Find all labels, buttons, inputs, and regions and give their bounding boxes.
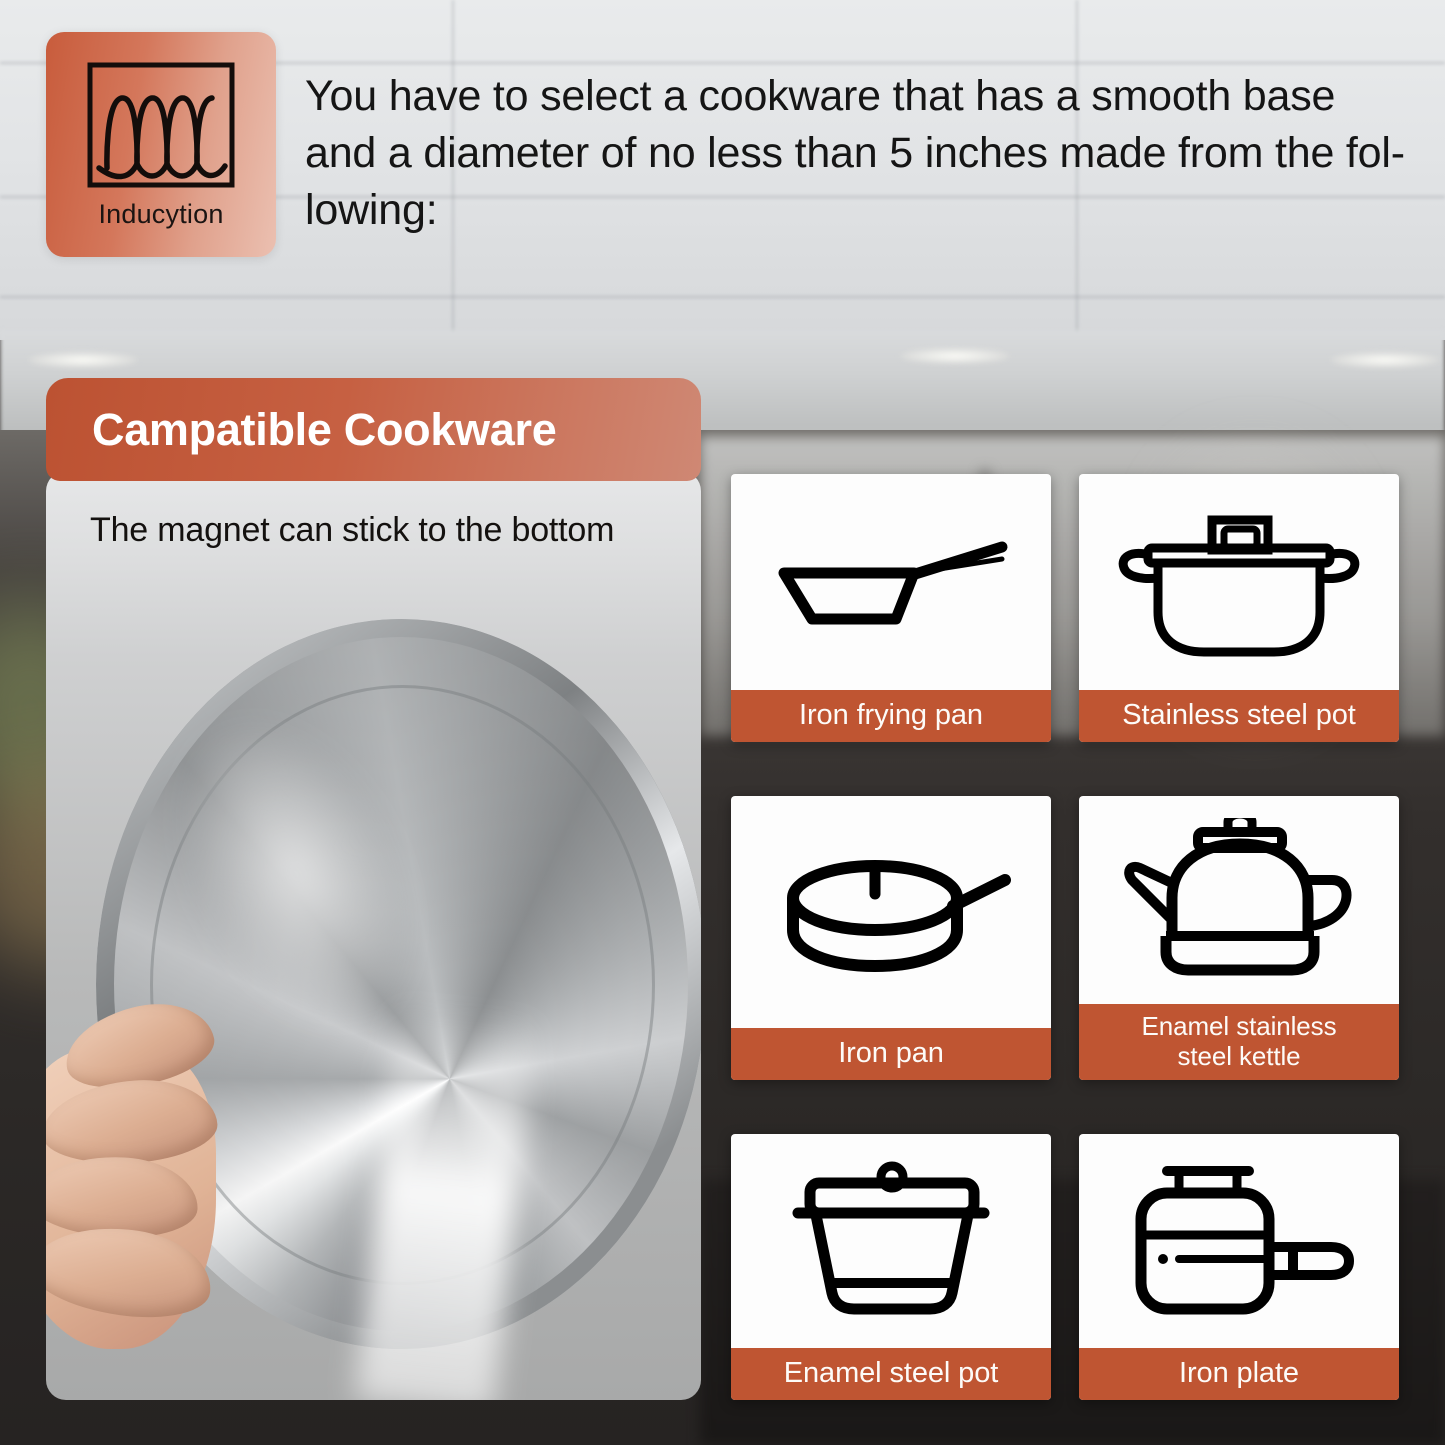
panel-title-bar: Campatible Cookware xyxy=(46,378,701,481)
induction-badge: Inducytion xyxy=(46,32,276,257)
card-artwork xyxy=(731,796,1051,1028)
card-artwork xyxy=(731,1134,1051,1348)
header-line-2: and a diameter of no less than 5 inches … xyxy=(305,125,1410,182)
compatible-cookware-panel: The magnet can stick to the bottom xyxy=(46,378,701,1400)
hood-light xyxy=(28,352,138,368)
card-label: Iron plate xyxy=(1079,1348,1399,1400)
card-label: Enamel stainless steel kettle xyxy=(1079,1004,1399,1080)
iron-plate-icon xyxy=(1119,1159,1359,1324)
card-label-line-2: steel kettle xyxy=(1177,1041,1300,1071)
magnet-on-pan-photo xyxy=(46,589,701,1400)
card-artwork xyxy=(1079,474,1399,690)
hand xyxy=(46,989,366,1389)
card-label: Stainless steel pot xyxy=(1079,690,1399,742)
magnet-caption: The magnet can stick to the bottom xyxy=(90,511,614,550)
infographic-page: Inducytion You have to select a cookware… xyxy=(0,0,1445,1445)
saute-pan-icon xyxy=(771,832,1011,992)
kettle-icon xyxy=(1122,818,1357,983)
card-artwork xyxy=(1079,796,1399,1004)
hood-light xyxy=(1330,352,1440,368)
card-label: Enamel steel pot xyxy=(731,1348,1051,1400)
cookware-grid: Iron frying pan Stainless steel pot xyxy=(731,474,1399,1400)
card-artwork xyxy=(1079,1134,1399,1348)
cookware-card-enamel-steel-pot[interactable]: Enamel steel pot xyxy=(731,1134,1051,1400)
cookware-card-iron-frying-pan[interactable]: Iron frying pan xyxy=(731,474,1051,742)
panel-title: Campatible Cookware xyxy=(92,404,556,456)
tile-grout-line xyxy=(0,296,1445,298)
induction-badge-label: Inducytion xyxy=(98,199,223,230)
header-line-1: You have to select a cookware that has a… xyxy=(305,68,1410,125)
card-label: Iron frying pan xyxy=(731,690,1051,742)
cookware-card-iron-pan[interactable]: Iron pan xyxy=(731,796,1051,1080)
card-label: Iron pan xyxy=(731,1028,1051,1080)
card-label-line-1: Enamel stainless xyxy=(1142,1011,1337,1041)
hood-light xyxy=(900,348,1010,364)
stock-pot-icon xyxy=(1112,500,1367,665)
frying-pan-icon xyxy=(766,507,1016,657)
cookware-card-enamel-kettle[interactable]: Enamel stainless steel kettle xyxy=(1079,796,1399,1080)
cookware-card-iron-plate[interactable]: Iron plate xyxy=(1079,1134,1399,1400)
induction-coil-icon xyxy=(85,60,237,190)
header-paragraph: You have to select a cookware that has a… xyxy=(305,68,1410,239)
header-line-3: lowing: xyxy=(305,182,1410,239)
panel-body: The magnet can stick to the bottom xyxy=(46,471,701,1400)
card-artwork xyxy=(731,474,1051,690)
enamel-pot-icon xyxy=(774,1161,1009,1321)
cookware-card-stainless-steel-pot[interactable]: Stainless steel pot xyxy=(1079,474,1399,742)
